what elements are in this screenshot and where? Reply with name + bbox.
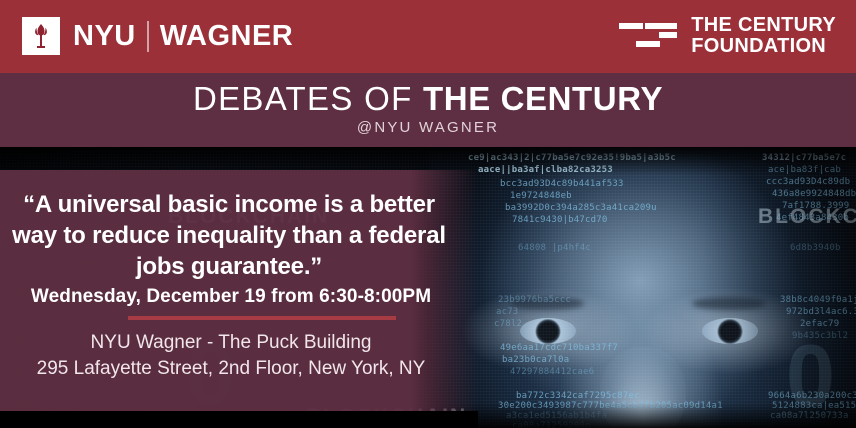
century-foundation-logo[interactable]: THE CENTURY FOUNDATION [619,14,836,58]
event-series-title: DEBATES OF THE CENTURY [0,79,856,118]
nyu-torch-icon [22,17,60,55]
tcf-line-1: THE CENTURY [691,15,836,36]
wagner-label: WAGNER [160,22,294,51]
nyu-label: NYU [73,22,136,51]
century-foundation-bars-icon [619,21,677,51]
title-bold-part: THE CENTURY [423,80,663,117]
title-band: DEBATES OF THE CENTURY @NYU WAGNER [0,73,856,147]
event-date: Wednesday, December 19 from 6:30-8:00PM [0,286,462,308]
venue-address: 295 Lafayette Street, 2nd Floor, New Yor… [0,356,462,382]
content-panel: “A universal basic income is a better wa… [0,170,478,411]
nyu-divider [147,21,149,52]
header-bar: NYU WAGNER THE CENTURY FOUNDATION [0,0,856,73]
divider-rule [128,316,396,320]
event-series-subtitle: @NYU WAGNER [0,119,856,136]
bottom-black-strip [0,411,478,428]
tcf-line-2: FOUNDATION [691,36,836,57]
venue-name: NYU Wagner - The Puck Building [0,330,462,356]
nose [600,347,686,428]
blockchain-watermark: BLOCKCHAIN [758,205,856,229]
nyu-wordmark: NYU WAGNER [73,21,293,52]
nyu-wagner-logo[interactable]: NYU WAGNER [22,17,293,55]
venue-block: NYU Wagner - The Puck Building 295 Lafay… [0,330,462,382]
eyebrow-right [692,297,766,310]
title-light-part: DEBATES OF [193,80,423,117]
event-poster: ce9|ac343|2|c77ba5e7c92e35!9ba5|a3b5c aa… [0,0,856,428]
eye-left [520,318,576,344]
eye-right [702,318,758,344]
background-big-digit: 0 [786,325,835,427]
century-foundation-wordmark: THE CENTURY FOUNDATION [691,15,836,57]
debate-quote: “A universal basic income is a better wa… [0,189,458,282]
eyebrow-left [510,297,584,310]
